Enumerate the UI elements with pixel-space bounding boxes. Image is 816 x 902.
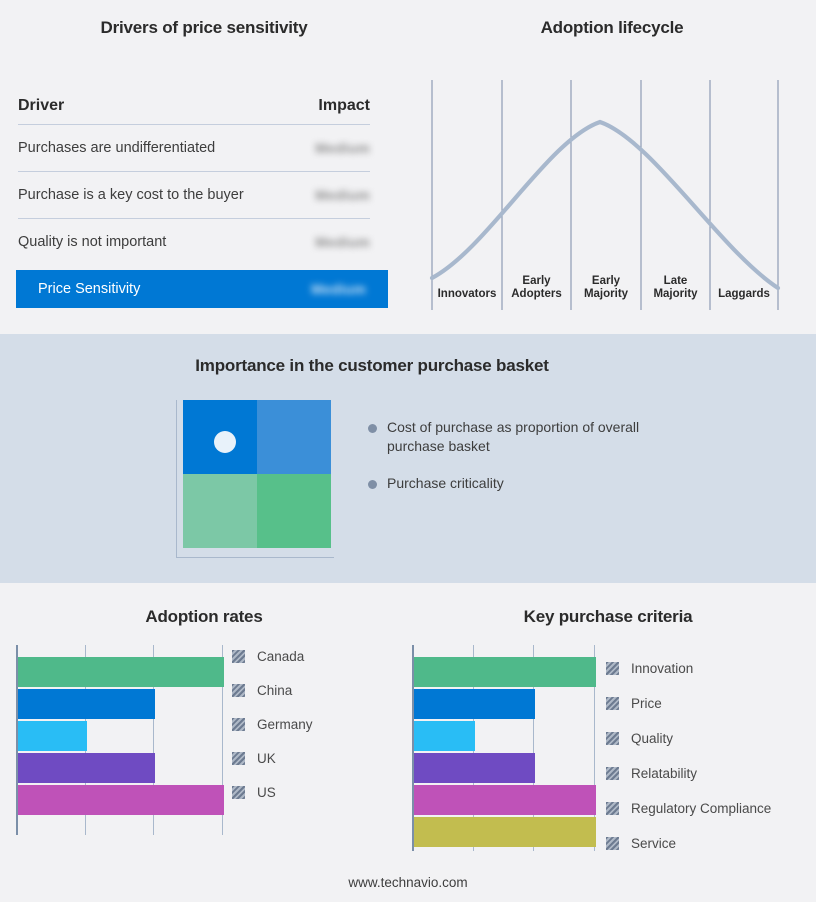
lifecycle-label-laggards: Laggards bbox=[710, 288, 778, 301]
key-purchase-criteria-title: Key purchase criteria bbox=[400, 607, 816, 627]
hatch-swatch-icon bbox=[606, 767, 619, 780]
matrix-x-axis bbox=[176, 557, 334, 558]
bullet-dot-icon bbox=[368, 480, 377, 489]
importance-matrix-panel: Importance in the customer purchase bask… bbox=[0, 334, 816, 583]
lifecycle-label-late-majority: Late Majority bbox=[641, 275, 710, 301]
legend-label: Innovation bbox=[631, 661, 693, 676]
drivers-panel: Drivers of price sensitivity Driver Impa… bbox=[0, 0, 408, 334]
table-row: Quality is not important Medium bbox=[18, 219, 370, 265]
bar-china bbox=[18, 689, 155, 719]
drivers-table: Driver Impact Purchases are undifferenti… bbox=[18, 88, 370, 265]
lifecycle-label-early-adopters: Early Adopters bbox=[502, 275, 571, 301]
legend-label: UK bbox=[257, 751, 276, 766]
bell-curve-path bbox=[432, 122, 778, 288]
bar-innovation bbox=[414, 657, 596, 687]
legend-label: Service bbox=[631, 836, 676, 851]
hatch-swatch-icon bbox=[606, 697, 619, 710]
hatch-swatch-icon bbox=[606, 732, 619, 745]
segment-label-line: Majority bbox=[584, 288, 628, 300]
legend-label: China bbox=[257, 683, 292, 698]
matrix-legend-label: Purchase criticality bbox=[387, 474, 504, 493]
adoption-rates-legend: CanadaChinaGermanyUKUS bbox=[232, 649, 313, 819]
table-row: Purchase is a key cost to the buyer Medi… bbox=[18, 172, 370, 218]
matrix-y-axis bbox=[176, 400, 177, 558]
impact-value-redacted: Medium bbox=[315, 234, 370, 250]
matrix-legend: Cost of purchase as proportion of overal… bbox=[368, 418, 658, 511]
bar-germany bbox=[18, 721, 87, 751]
driver-label: Quality is not important bbox=[18, 234, 166, 250]
segment-label-line: Early bbox=[522, 275, 550, 287]
bullet-dot-icon bbox=[368, 424, 377, 433]
matrix-quadrant-top-right bbox=[257, 400, 331, 474]
key-purchase-criteria-plot bbox=[412, 645, 594, 861]
lifecycle-segment-labels: Innovators Early Adopters Early Majority… bbox=[408, 272, 816, 312]
hatch-swatch-icon bbox=[232, 684, 245, 697]
matrix-quadrant-bottom-right bbox=[257, 474, 331, 548]
segment-label-line: Early bbox=[592, 275, 620, 287]
matrix-position-marker bbox=[214, 431, 236, 453]
impact-value-redacted: Medium bbox=[315, 140, 370, 156]
legend-label: Germany bbox=[257, 717, 313, 732]
matrix-chart bbox=[183, 400, 331, 548]
list-item: Cost of purchase as proportion of overal… bbox=[368, 418, 658, 456]
hatch-swatch-icon bbox=[232, 752, 245, 765]
legend-item: Canada bbox=[232, 649, 313, 664]
impact-value-redacted: Medium bbox=[315, 187, 370, 203]
bar-relatability bbox=[414, 753, 535, 783]
legend-label: Relatability bbox=[631, 766, 697, 781]
drivers-panel-title: Drivers of price sensitivity bbox=[0, 18, 408, 38]
bar-canada bbox=[18, 657, 224, 687]
legend-label: Price bbox=[631, 696, 662, 711]
hatch-swatch-icon bbox=[232, 650, 245, 663]
segment-label-line: Majority bbox=[653, 288, 697, 300]
legend-item: Service bbox=[606, 836, 771, 851]
bar-regulatory-compliance bbox=[414, 785, 596, 815]
legend-item: Regulatory Compliance bbox=[606, 801, 771, 816]
column-header-driver: Driver bbox=[18, 97, 64, 115]
highlight-impact-value-redacted: Medium bbox=[311, 281, 366, 297]
list-item: Purchase criticality bbox=[368, 474, 658, 493]
hatch-swatch-icon bbox=[232, 786, 245, 799]
driver-label: Purchases are undifferentiated bbox=[18, 140, 215, 156]
highlight-driver-label: Price Sensitivity bbox=[38, 281, 140, 297]
hatch-swatch-icon bbox=[606, 802, 619, 815]
segment-label-line: Innovators bbox=[438, 288, 497, 300]
adoption-rates-panel: Adoption rates CanadaChinaGermanyUKUS bbox=[0, 583, 408, 902]
key-purchase-criteria-legend: InnovationPriceQualityRelatabilityRegula… bbox=[606, 661, 771, 871]
legend-item: Germany bbox=[232, 717, 313, 732]
bar-uk bbox=[18, 753, 155, 783]
legend-item: Quality bbox=[606, 731, 771, 746]
price-sensitivity-highlight-row: Price Sensitivity Medium bbox=[16, 270, 388, 308]
key-purchase-criteria-panel: Key purchase criteria InnovationPriceQua… bbox=[400, 583, 816, 902]
matrix-panel-title: Importance in the customer purchase bask… bbox=[0, 356, 744, 376]
legend-label: US bbox=[257, 785, 276, 800]
legend-item: UK bbox=[232, 751, 313, 766]
segment-label-line: Laggards bbox=[718, 288, 770, 300]
table-header-row: Driver Impact bbox=[18, 88, 370, 124]
segment-label-line: Adopters bbox=[511, 288, 561, 300]
table-row: Purchases are undifferentiated Medium bbox=[18, 125, 370, 171]
hatch-swatch-icon bbox=[606, 662, 619, 675]
lifecycle-label-innovators: Innovators bbox=[432, 288, 502, 301]
hatch-swatch-icon bbox=[232, 718, 245, 731]
lifecycle-label-early-majority: Early Majority bbox=[571, 275, 641, 301]
column-header-impact: Impact bbox=[318, 97, 370, 115]
adoption-rates-plot bbox=[16, 645, 222, 851]
legend-label: Quality bbox=[631, 731, 673, 746]
legend-label: Regulatory Compliance bbox=[631, 801, 771, 816]
matrix-legend-label: Cost of purchase as proportion of overal… bbox=[387, 418, 658, 456]
bar-us bbox=[18, 785, 224, 815]
adoption-rates-title: Adoption rates bbox=[0, 607, 408, 627]
legend-item: Innovation bbox=[606, 661, 771, 676]
segment-label-line: Late bbox=[664, 275, 688, 287]
legend-label: Canada bbox=[257, 649, 304, 664]
matrix-quadrant-bottom-left bbox=[183, 474, 257, 548]
bar-price bbox=[414, 689, 535, 719]
legend-item: US bbox=[232, 785, 313, 800]
bar-quality bbox=[414, 721, 475, 751]
legend-item: Price bbox=[606, 696, 771, 711]
driver-label: Purchase is a key cost to the buyer bbox=[18, 187, 244, 203]
bar-service bbox=[414, 817, 596, 847]
legend-item: Relatability bbox=[606, 766, 771, 781]
footer-url: www.technavio.com bbox=[0, 875, 816, 890]
legend-item: China bbox=[232, 683, 313, 698]
lifecycle-panel-title: Adoption lifecycle bbox=[408, 18, 816, 38]
hatch-swatch-icon bbox=[606, 837, 619, 850]
adoption-lifecycle-panel: Adoption lifecycle Innovators Early Adop… bbox=[408, 0, 816, 334]
